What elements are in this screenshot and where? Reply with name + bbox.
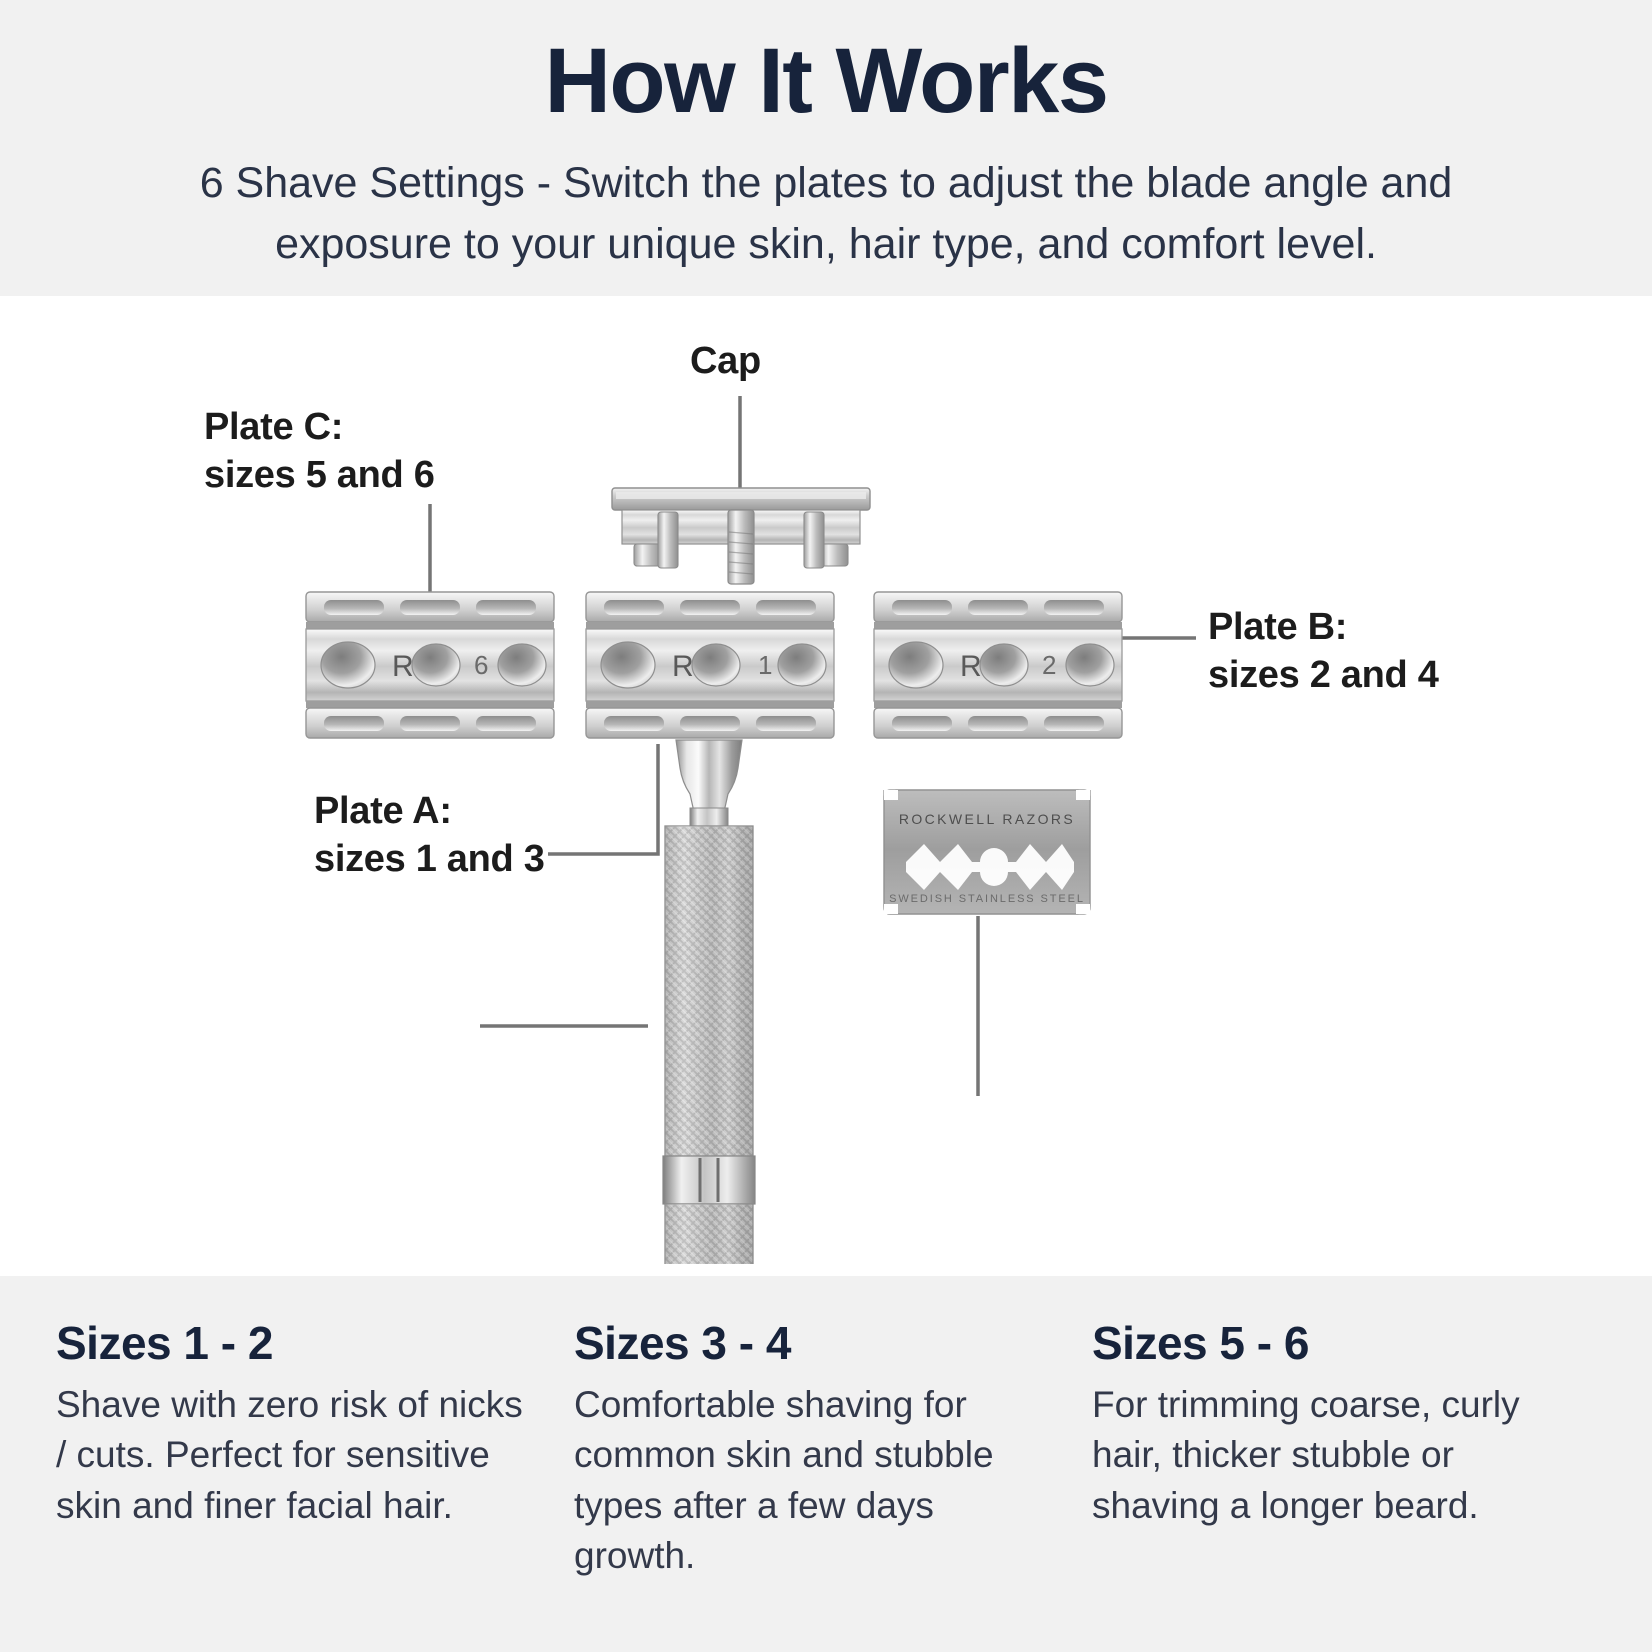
double-edge-blade: ROCKWELL RAZORS SWEDISH STAINLESS STEEL	[884, 790, 1090, 914]
sizes-column-2: Sizes 3 - 4 Comfortable shaving for comm…	[574, 1316, 1052, 1652]
svg-text:R: R	[672, 650, 694, 683]
sizes-body-2: Comfortable shaving for common skin and …	[574, 1380, 1052, 1581]
svg-text:R: R	[392, 650, 414, 683]
sizes-heading-2: Sizes 3 - 4	[574, 1316, 1052, 1370]
razor-handle	[663, 740, 755, 1264]
sizes-column-1: Sizes 1 - 2 Shave with zero risk of nick…	[56, 1316, 534, 1652]
callout-plate-b: Plate B: sizes 2 and 4	[1208, 604, 1439, 700]
razor-cap	[612, 488, 870, 584]
page-subtitle: 6 Shave Settings - Switch the plates to …	[116, 153, 1536, 275]
sizes-column-3: Sizes 5 - 6 For trimming coarse, curly h…	[1092, 1316, 1570, 1652]
plate-b-number: 2	[1042, 650, 1056, 680]
sizes-heading-3: Sizes 5 - 6	[1092, 1316, 1570, 1370]
plate-c: R 6	[306, 592, 554, 738]
infographic-page: How It Works 6 Shave Settings - Switch t…	[0, 0, 1652, 1652]
sizes-body-3: For trimming coarse, curly hair, thicker…	[1092, 1380, 1570, 1531]
plate-b: R 2	[874, 592, 1122, 738]
sizes-panel: Sizes 1 - 2 Shave with zero risk of nick…	[0, 1276, 1652, 1652]
sizes-body-1: Shave with zero risk of nicks / cuts. Pe…	[56, 1380, 534, 1531]
svg-text:R: R	[960, 650, 982, 683]
callout-plate-a: Plate A: sizes 1 and 3	[314, 788, 545, 884]
plate-c-number: 6	[474, 650, 488, 680]
callout-plate-c: Plate C: sizes 5 and 6	[204, 404, 435, 500]
plate-a: R 1	[586, 592, 834, 738]
leader-line-plate-a	[548, 744, 658, 854]
header-panel: How It Works 6 Shave Settings - Switch t…	[0, 0, 1652, 296]
callout-cap: Cap	[690, 338, 761, 386]
sizes-heading-1: Sizes 1 - 2	[56, 1316, 534, 1370]
blade-brand-text: ROCKWELL RAZORS	[899, 811, 1075, 827]
blade-material-text: SWEDISH STAINLESS STEEL	[889, 893, 1085, 905]
plate-a-number: 1	[758, 650, 772, 680]
diagram-stage: R 6 R 1 R 2	[0, 296, 1652, 1264]
page-title: How It Works	[544, 32, 1107, 131]
